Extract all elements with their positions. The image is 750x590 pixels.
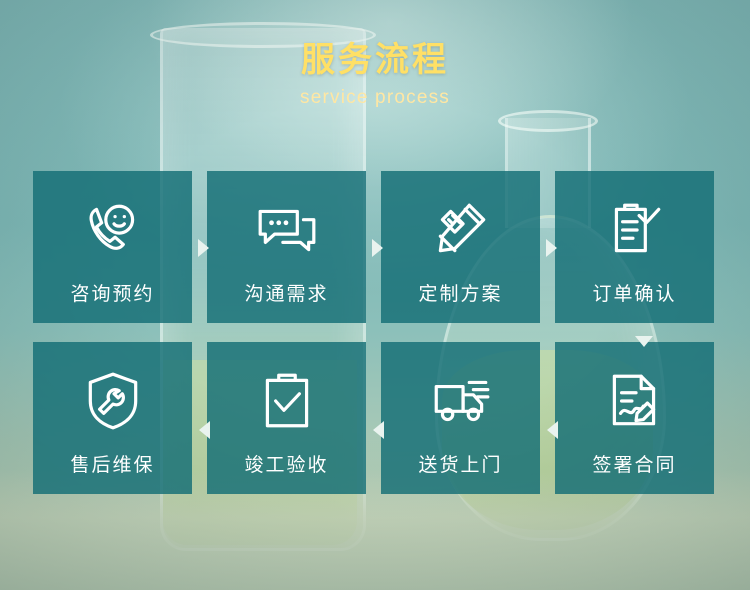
chat-bubbles-icon: [253, 197, 321, 263]
arrow-row1-2: [372, 239, 383, 257]
process-row-2: 售后维保 竣工验收: [33, 342, 717, 494]
arrow-row2-1: [199, 421, 210, 439]
step-label: 售后维保: [70, 450, 154, 477]
clipboard-check-icon: [253, 368, 321, 434]
step-card-communication[interactable]: 沟通需求: [207, 171, 366, 323]
step-card-acceptance[interactable]: 竣工验收: [207, 342, 366, 494]
step-card-consultation[interactable]: 咨询预约: [33, 171, 192, 323]
step-label: 订单确认: [592, 279, 676, 306]
page-title: 服务流程 service process: [0, 40, 750, 109]
delivery-truck-icon: [427, 368, 495, 434]
step-label: 竣工验收: [244, 450, 328, 477]
step-label: 签署合同: [592, 450, 676, 477]
process-grid: 咨询预约 沟通需求: [33, 171, 717, 513]
step-label: 送货上门: [418, 450, 502, 477]
step-card-order-confirm[interactable]: 订单确认: [555, 171, 714, 323]
arrow-row1-to-row2: [635, 336, 653, 347]
phone-call-icon: [79, 197, 147, 263]
step-card-contract[interactable]: 签署合同: [555, 342, 714, 494]
title-english: service process: [0, 87, 750, 109]
step-card-custom-plan[interactable]: 定制方案: [381, 171, 540, 323]
step-card-after-sales[interactable]: 售后维保: [33, 342, 192, 494]
step-label: 定制方案: [418, 279, 502, 306]
pencil-ruler-icon: [427, 197, 495, 263]
arrow-row1-3: [546, 239, 557, 257]
step-label: 咨询预约: [70, 279, 154, 306]
arrow-row2-2: [373, 421, 384, 439]
arrow-row2-3: [547, 421, 558, 439]
checklist-clipboard-icon: [601, 197, 669, 263]
shield-wrench-icon: [79, 368, 147, 434]
contract-signature-icon: [601, 368, 669, 434]
title-chinese: 服务流程: [0, 40, 750, 81]
service-process-banner: 服务流程 service process 咨询预约: [0, 0, 750, 590]
step-card-delivery[interactable]: 送货上门: [381, 342, 540, 494]
arrow-row1-1: [198, 239, 209, 257]
step-label: 沟通需求: [244, 279, 328, 306]
